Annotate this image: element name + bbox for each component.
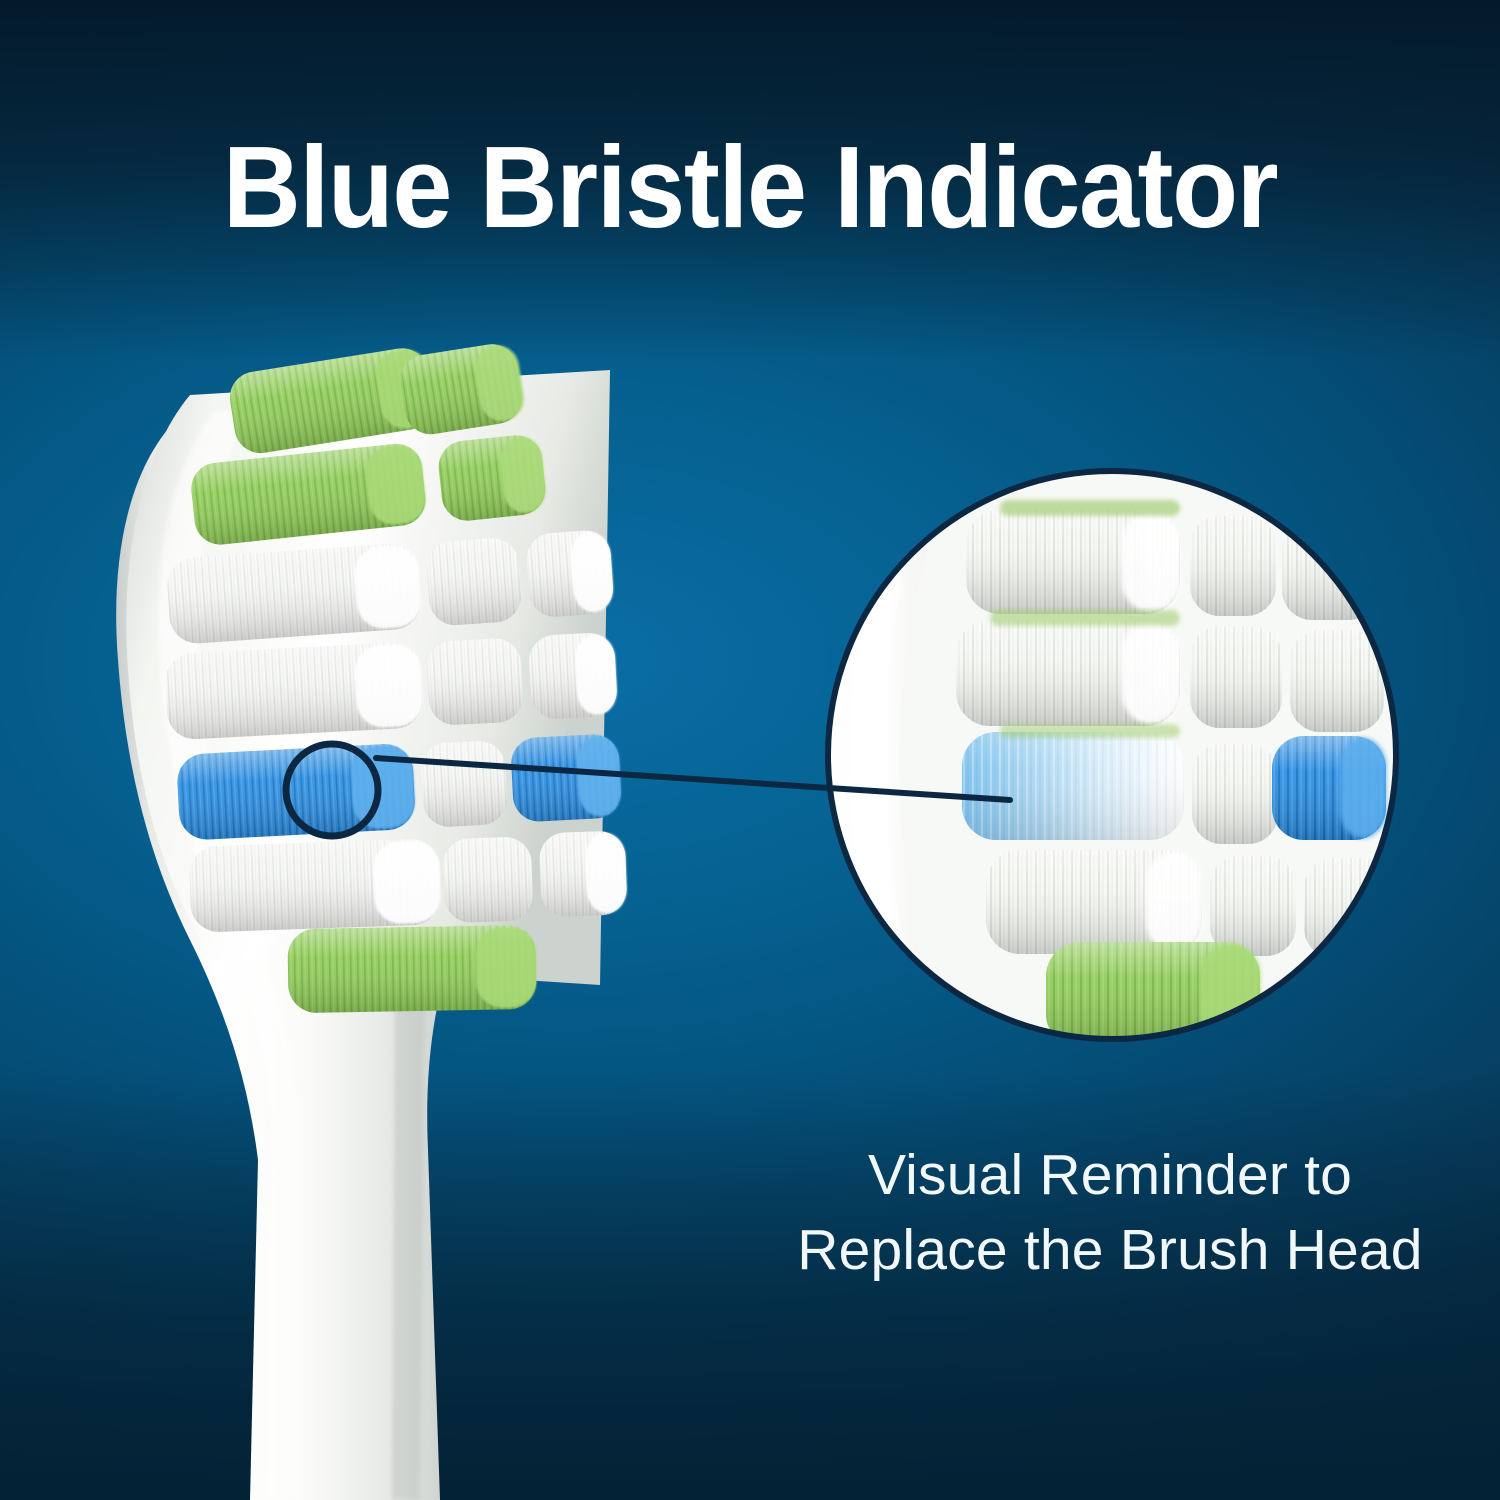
callout-connector [0, 0, 1500, 1500]
callout-line [376, 758, 1010, 800]
bristle-highlight-circle [286, 744, 378, 836]
product-feature-graphic: Blue Bristle Indicator Visual Reminder t… [0, 0, 1500, 1500]
